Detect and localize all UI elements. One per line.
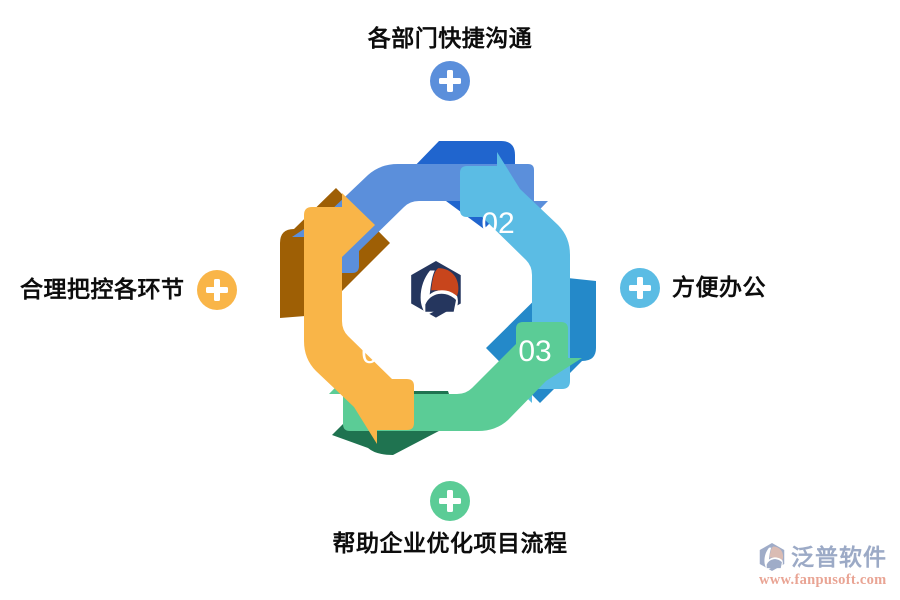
cycle-arrow-diagram: 01 02 03 04 [258,133,618,463]
callout-right-label: 方便办公 [672,275,766,300]
watermark-brand-row: 泛普软件 [757,543,887,571]
watermark-name: 泛普软件 [791,546,887,569]
cycle-arrow-04[interactable]: 04 [304,193,414,444]
arrow-04-number: 04 [361,337,394,370]
callout-right: 方便办公 [620,268,766,308]
watermark-url: www.fanpusoft.com [759,572,887,589]
watermark-logo-icon [757,543,787,571]
plus-circle-icon-left [197,270,237,310]
plus-circle-icon-bottom [430,481,470,521]
callout-top-label: 各部门快捷沟通 [368,26,533,51]
watermark: 泛普软件 www.fanpusoft.com [757,543,892,591]
fanpu-logo-icon [411,261,461,318]
callout-left: 合理把控各环节 [20,270,237,310]
callout-top: 各部门快捷沟通 [0,26,900,101]
plus-circle-icon-top [430,61,470,101]
arrow-04-shape[interactable] [304,193,414,444]
callout-bottom-label: 帮助企业优化项目流程 [333,531,568,556]
plus-circle-icon-right [620,268,660,308]
callout-left-label: 合理把控各环节 [20,277,185,302]
diagram-canvas: 各部门快捷沟通 合理把控各环节 方便办公 帮助企业优化项目流程 [0,0,900,600]
arrow-02-number: 02 [481,207,514,240]
arrow-03-number: 03 [518,335,551,368]
